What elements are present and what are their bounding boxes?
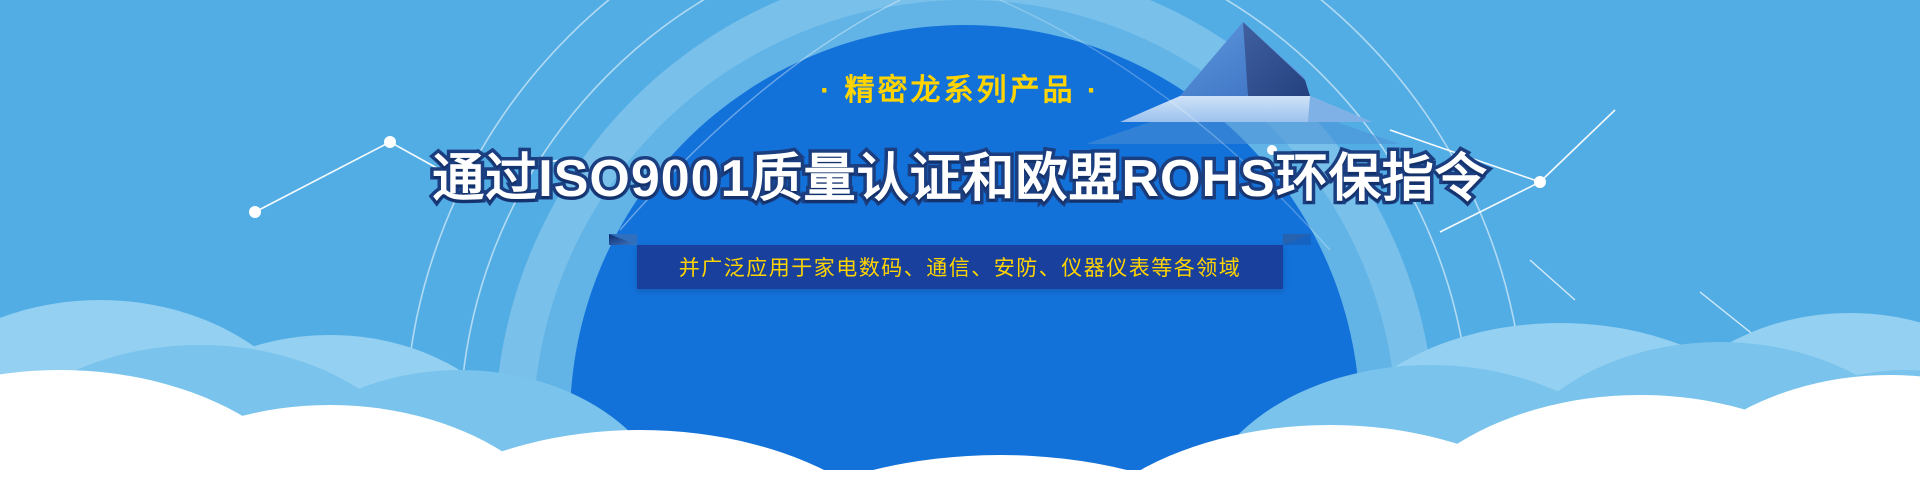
subtitle-text: 并广泛应用于家电数码、通信、安防、仪器仪表等各领域 [679,252,1242,282]
subtitle-ribbon: 并广泛应用于家电数码、通信、安防、仪器仪表等各领域 [637,245,1284,289]
ribbon-fold-left [609,234,637,245]
headline-text: 通过ISO9001质量认证和欧盟ROHS环保指令 [0,148,1920,210]
ribbon-container: 并广泛应用于家电数码、通信、安防、仪器仪表等各领域 [0,239,1920,295]
ribbon-fold-right [1283,234,1311,245]
promo-banner: · 精密龙系列产品 · 通过ISO9001质量认证和欧盟ROHS环保指令 并广泛… [0,0,1920,480]
eyebrow-text: · 精密龙系列产品 · [0,76,1920,106]
